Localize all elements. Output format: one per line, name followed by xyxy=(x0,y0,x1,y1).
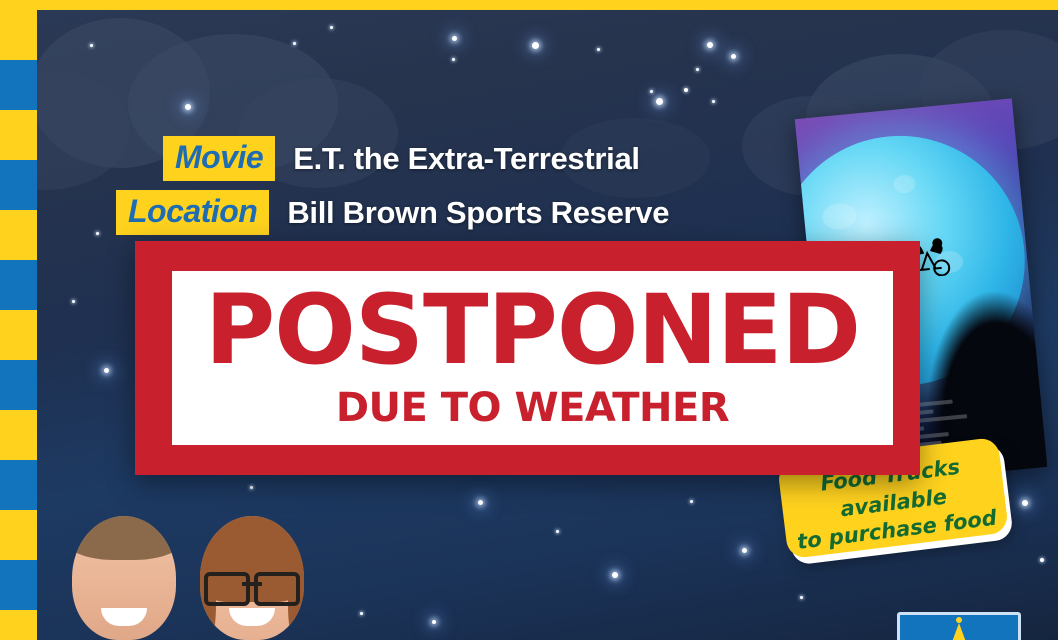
portrait-man xyxy=(72,516,176,640)
avatar xyxy=(64,512,184,640)
star xyxy=(556,530,559,533)
star xyxy=(597,48,600,51)
postponed-banner-panel: POSTPONED DUE TO WEATHER xyxy=(172,271,893,445)
star xyxy=(452,36,457,41)
postponed-banner: POSTPONED DUE TO WEATHER xyxy=(135,241,920,475)
star xyxy=(360,612,363,615)
location-row: Location Bill Brown Sports Reserve xyxy=(116,190,669,235)
smile-shape xyxy=(101,608,147,626)
location-label: Location xyxy=(116,190,269,235)
star xyxy=(104,368,109,373)
star xyxy=(612,572,618,578)
star xyxy=(712,100,715,103)
star xyxy=(432,620,436,624)
star xyxy=(185,104,191,110)
star xyxy=(90,44,93,47)
smile-shape xyxy=(229,608,275,626)
star xyxy=(532,42,539,49)
hair-shape xyxy=(72,516,176,560)
star xyxy=(250,486,253,489)
star xyxy=(800,596,803,599)
star xyxy=(478,500,483,505)
logo-dot-icon xyxy=(956,617,962,623)
star xyxy=(742,548,747,553)
star xyxy=(707,42,713,48)
star xyxy=(293,42,296,45)
event-poster: Movie E.T. the Extra-Terrestrial Locatio… xyxy=(0,0,1058,640)
glasses-icon xyxy=(204,572,300,598)
star xyxy=(696,68,699,71)
star xyxy=(684,88,688,92)
top-accent-bar xyxy=(0,0,1058,10)
avatar xyxy=(190,508,314,640)
star xyxy=(731,54,736,59)
postponed-subhead: DUE TO WEATHER xyxy=(336,385,729,431)
checker-stripe xyxy=(0,10,37,640)
movie-label: Movie xyxy=(163,136,275,181)
movie-row: Movie E.T. the Extra-Terrestrial xyxy=(163,136,640,181)
star xyxy=(72,300,75,303)
portrait-woman xyxy=(200,516,304,640)
star xyxy=(690,500,693,503)
logo-mark-icon xyxy=(948,623,970,640)
star xyxy=(96,232,99,235)
movie-title: E.T. the Extra-Terrestrial xyxy=(293,141,640,177)
star xyxy=(1022,500,1028,506)
postponed-headline: POSTPONED xyxy=(205,285,860,376)
location-value: Bill Brown Sports Reserve xyxy=(287,195,669,231)
star xyxy=(656,98,663,105)
star xyxy=(650,90,653,93)
star xyxy=(452,58,455,61)
star xyxy=(330,26,333,29)
star xyxy=(1040,558,1044,562)
council-logo xyxy=(897,612,1021,640)
